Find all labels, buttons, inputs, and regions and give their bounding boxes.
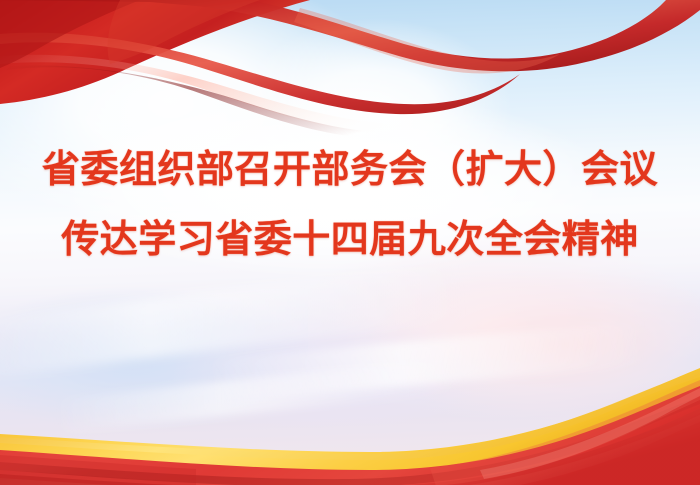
red-silk-ribbon-top [0,0,700,138]
poster-canvas: 省委组织部召开部务会（扩大）会议 传达学习省委十四届九次全会精神 [0,0,700,485]
headline-line-2: 传达学习省委十四届九次全会精神 [0,220,700,258]
headline-block: 省委组织部召开部务会（扩大）会议 传达学习省委十四届九次全会精神 [0,150,700,258]
red-silk-wave-bottom [0,368,700,485]
headline-line-1: 省委组织部召开部务会（扩大）会议 [0,150,700,188]
